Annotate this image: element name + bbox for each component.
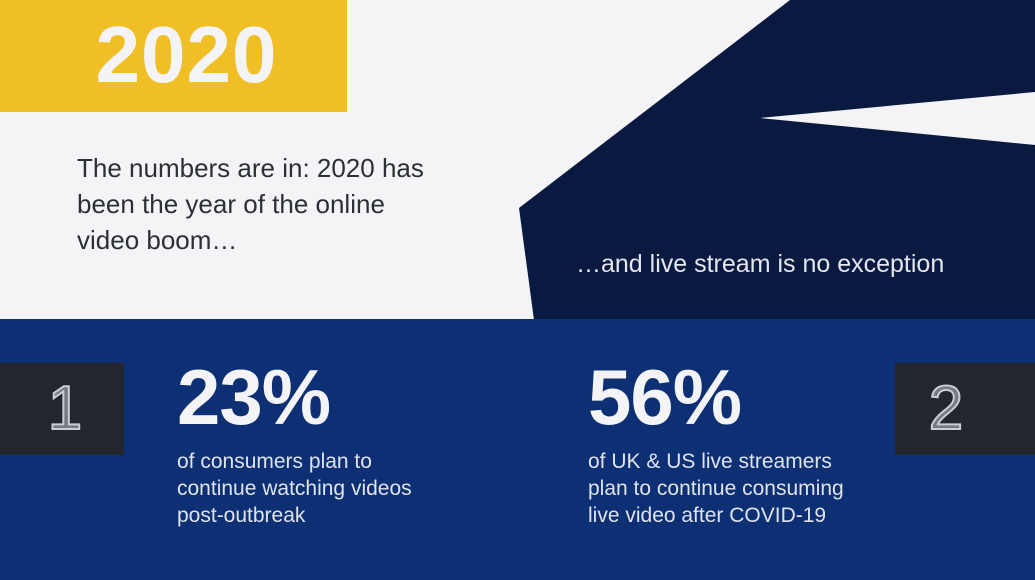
stat-1-caption-line: of consumers plan to	[177, 448, 507, 475]
stat-block-2: 56% of UK & US live streamers plan to co…	[588, 354, 918, 529]
navy-banner-caption: …and live stream is no exception	[576, 248, 1006, 280]
stat-badge-2: 2	[895, 363, 1035, 455]
stat-1-caption-line: continue watching videos	[177, 475, 507, 502]
stat-1-value: 23%	[177, 354, 507, 440]
year-tag: 2020	[0, 0, 347, 112]
stat-block-1: 23% of consumers plan to continue watchi…	[177, 354, 507, 529]
stat-badge-1-number: 1	[42, 378, 82, 440]
infographic-canvas: 2020 The numbers are in: 2020 has been t…	[0, 0, 1035, 580]
intro-paragraph: The numbers are in: 2020 has been the ye…	[77, 150, 477, 258]
stat-badge-2-number: 2	[929, 378, 1001, 440]
year-tag-label: 2020	[70, 15, 278, 95]
stat-1-caption: of consumers plan to continue watching v…	[177, 448, 507, 529]
stat-2-caption-line: of UK & US live streamers	[588, 448, 918, 475]
stat-2-value: 56%	[588, 354, 918, 440]
stat-2-caption-line: live video after COVID-19	[588, 502, 918, 529]
intro-line: been the year of the online	[77, 186, 477, 222]
stat-2-caption: of UK & US live streamers plan to contin…	[588, 448, 918, 529]
intro-line: The numbers are in: 2020 has	[77, 150, 477, 186]
stat-badge-1: 1	[0, 363, 124, 455]
intro-line: video boom…	[77, 222, 477, 258]
stat-1-caption-line: post-outbreak	[177, 502, 507, 529]
stat-2-caption-line: plan to continue consuming	[588, 475, 918, 502]
